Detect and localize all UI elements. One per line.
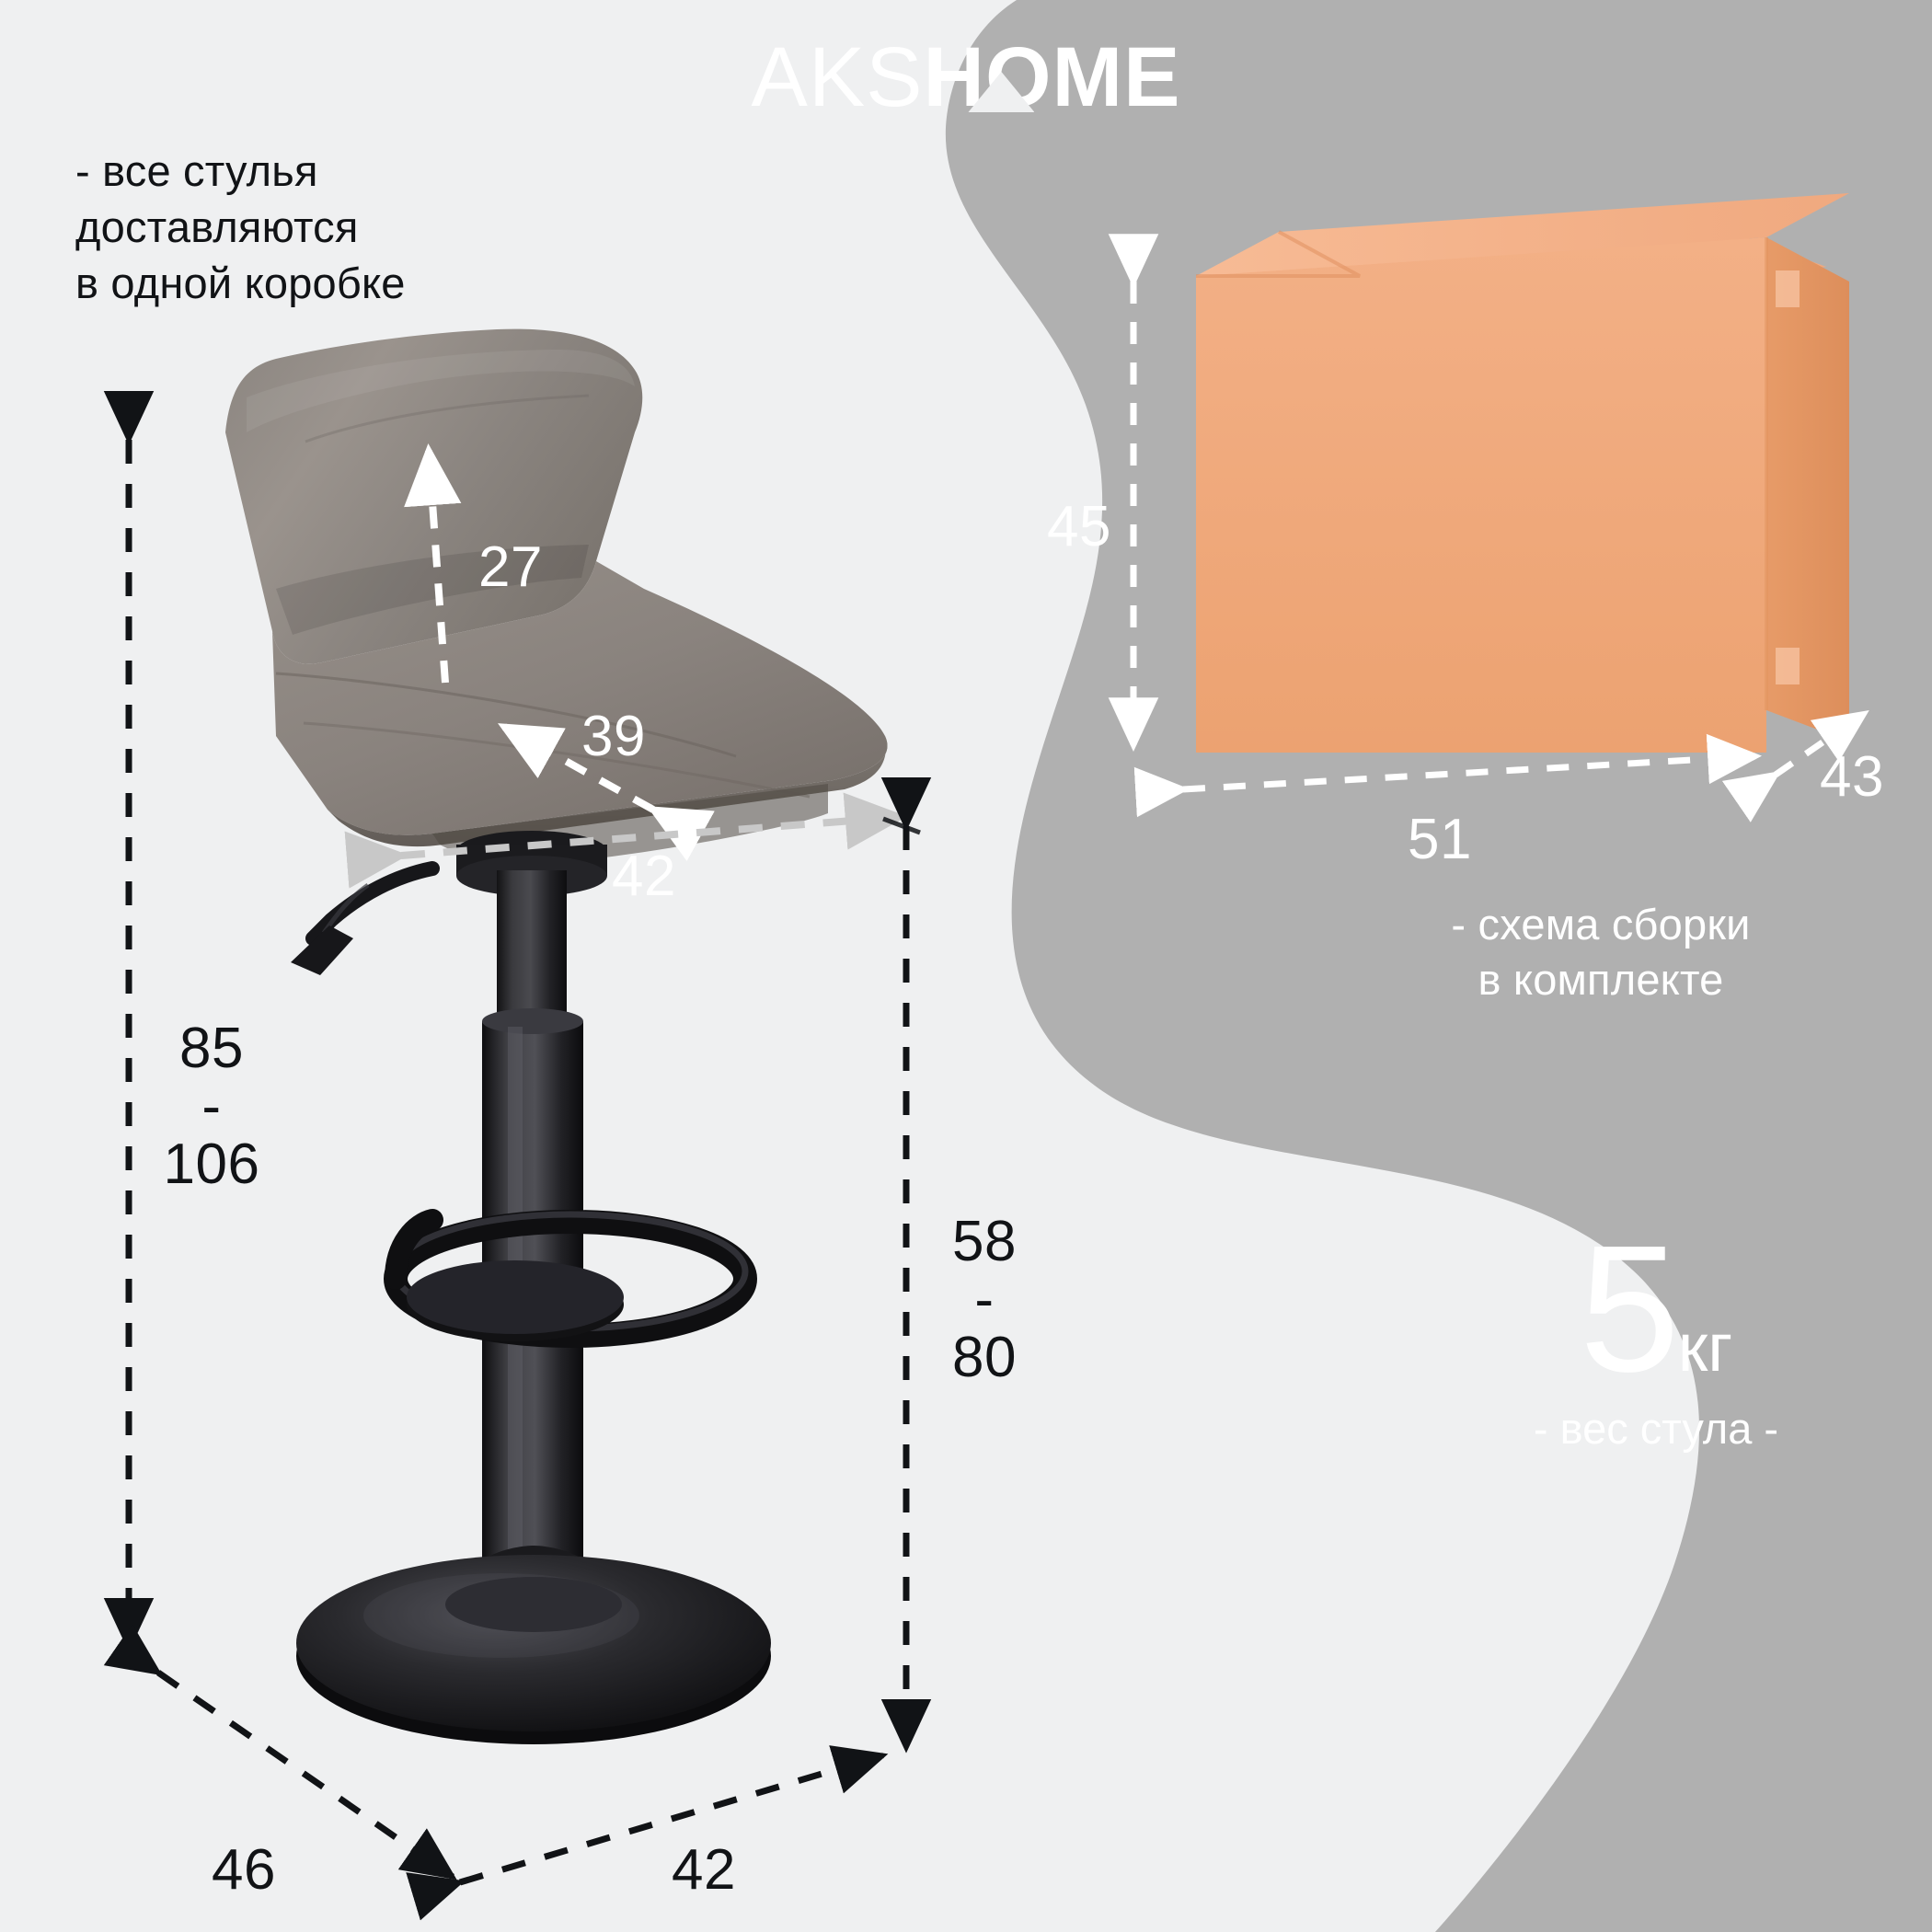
dim-label-seat-height: 58 - 80 <box>911 1213 1058 1387</box>
delivery-note: - все стулья доставляются в одной коробк… <box>75 143 406 311</box>
dim-label-backrest-height: 27 <box>460 537 561 599</box>
assembly-note: - схема сборки в комплекте <box>1325 897 1877 1007</box>
dim-label-total-height: 85 - 106 <box>138 1019 285 1194</box>
dim-label-box-width: 51 <box>1380 810 1500 871</box>
dim-label-box-height: 45 <box>1029 497 1130 558</box>
weight-block: 5кг - вес стула - <box>1380 1219 1932 1450</box>
weight-unit: кг <box>1678 1309 1732 1386</box>
dim-label-seat-depth: 39 <box>563 707 664 768</box>
dim-label-seat-width: 42 <box>593 846 695 908</box>
infographic-canvas: AKSHOME - все стулья доставляются в одно… <box>0 0 1932 1932</box>
weight-value: 5 <box>1580 1208 1678 1409</box>
weight-caption: - вес стула - <box>1380 1407 1932 1450</box>
dim-label-base-depth: 46 <box>184 1840 304 1902</box>
dim-label-base-width: 42 <box>644 1840 764 1902</box>
dim-label-box-depth: 43 <box>1792 747 1912 809</box>
